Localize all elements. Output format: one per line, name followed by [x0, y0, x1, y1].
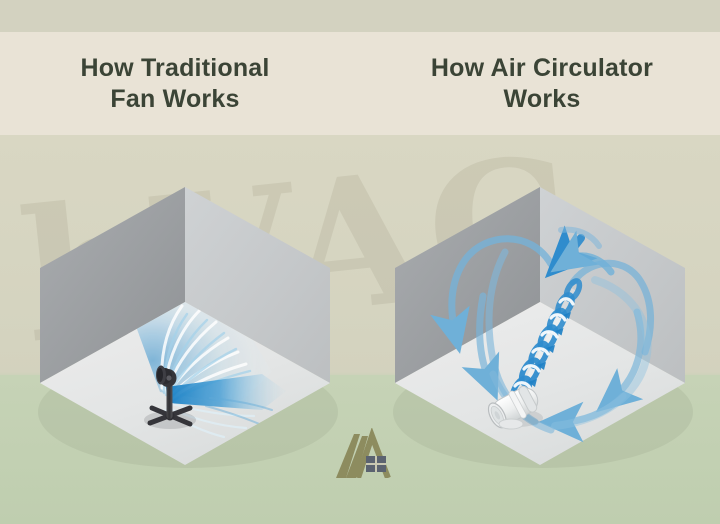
- title-line-1: How Traditional: [80, 54, 269, 82]
- header-left: How Traditional Fan Works: [0, 32, 360, 135]
- infographic-canvas: hVAC How Traditional Fan Works How Air C…: [0, 0, 720, 524]
- window-icon: [366, 456, 386, 472]
- title-line-2: Fan Works: [110, 85, 239, 113]
- page-title-air-circulator: How Air Circulator Works: [431, 53, 653, 115]
- page-title-traditional-fan: How Traditional Fan Works: [80, 53, 269, 115]
- house-roof-logo: [332, 428, 394, 478]
- diagram-air-circulator: [365, 160, 715, 460]
- diagram-traditional-fan: [10, 160, 360, 460]
- title-line-2: Works: [504, 85, 581, 113]
- header-right: How Air Circulator Works: [360, 32, 720, 135]
- background-top-strip: [0, 0, 720, 32]
- header-row: How Traditional Fan Works How Air Circul…: [0, 32, 720, 135]
- title-line-1: How Air Circulator: [431, 54, 653, 82]
